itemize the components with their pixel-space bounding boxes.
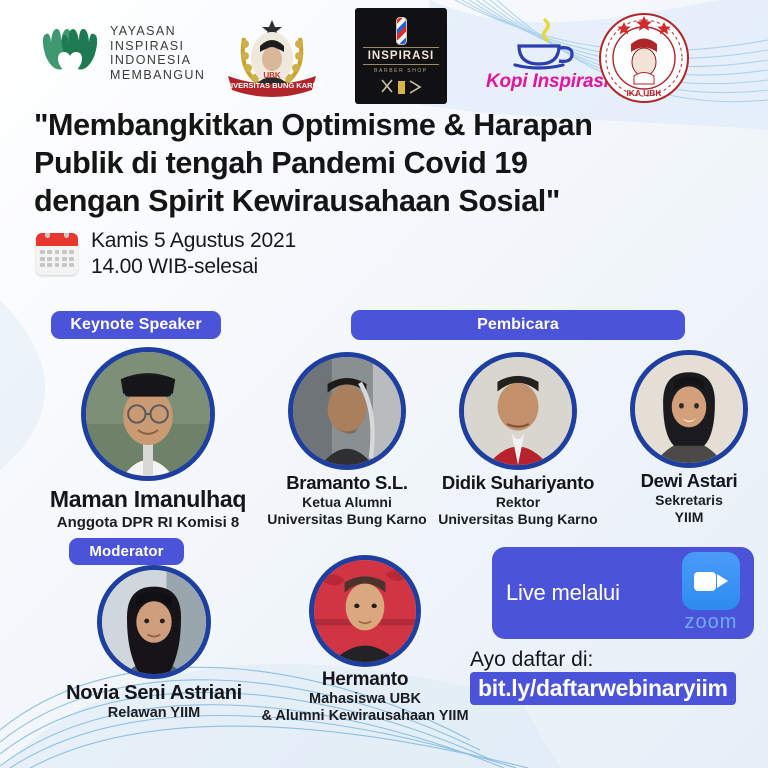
speaker-2-name: Didik Suhariyanto xyxy=(429,472,607,494)
yiim-line-1: YAYASAN xyxy=(110,24,205,39)
extra-role: Mahasiswa UBK & Alumni Kewirausahaan YII… xyxy=(245,691,485,725)
yiim-line-2: INSPIRASI xyxy=(110,39,205,54)
person-extra: Hermanto Mahasiswa UBK & Alumni Kewiraus… xyxy=(245,560,485,725)
avatar-didik-suhariyanto xyxy=(464,357,572,465)
ubk-initials: UBK xyxy=(263,71,281,80)
speaker-2-role: Rektor Universitas Bung Karno xyxy=(429,494,607,528)
badge-moderator: Moderator xyxy=(69,538,184,565)
logo-yiim: YAYASAN INSPIRASI INDONESIA MEMBANGUN xyxy=(38,22,205,84)
razor-scissors-icon xyxy=(378,78,424,96)
moderator-role: Relawan YIIM xyxy=(40,705,268,721)
event-date-block: Kamis 5 Agustus 2021 14.00 WIB-selesai xyxy=(36,228,296,280)
keynote-name: Maman Imanulhaq xyxy=(18,486,278,513)
avatar-dewi-astari xyxy=(635,355,743,463)
logo-universitas-bung-karno: UNIVERSITAS BUNG KARNO UBK xyxy=(218,12,326,100)
barber-logo-sub: BARBER SHOP xyxy=(374,68,428,74)
logo-strip: YAYASAN INSPIRASI INDONESIA MEMBANGUN xyxy=(0,0,768,108)
speaker-1-role-line-1: Ketua Alumni xyxy=(258,494,436,511)
logo-ika-ubk: IKA UBK xyxy=(590,10,698,106)
person-moderator: Novia Seni Astriani Relawan YIIM xyxy=(40,570,268,721)
avatar-hermanto xyxy=(314,560,416,662)
register-link[interactable]: bit.ly/daftarwebinaryiim xyxy=(470,672,736,705)
barber-pole-icon xyxy=(396,17,407,45)
calendar-icon xyxy=(36,233,78,275)
speaker-3-role-line-2: YIIM xyxy=(600,509,768,526)
person-speaker-3: Dewi Astari Sekretaris YIIM xyxy=(600,355,768,526)
register-call-to-action: Ayo daftar di: xyxy=(470,648,593,672)
live-platform-box: Live melalui zoom xyxy=(492,547,754,639)
title-line-2: Publik di tengah Pandemi Covid 19 xyxy=(34,144,750,182)
avatar-photo xyxy=(464,357,572,465)
yiim-hands-heart-icon xyxy=(38,22,102,84)
barber-logo-text: INSPIRASI xyxy=(363,47,440,65)
avatar-bramanto xyxy=(293,357,401,465)
moderator-name: Novia Seni Astriani xyxy=(40,682,268,705)
speaker-1-name: Bramanto S.L. xyxy=(258,472,436,494)
avatar-photo xyxy=(86,352,210,476)
badge-pembicara: Pembicara xyxy=(351,310,685,340)
ubk-seal-icon: UNIVERSITAS BUNG KARNO UBK xyxy=(218,12,326,100)
avatar-photo xyxy=(635,355,743,463)
person-keynote: Maman Imanulhaq Anggota DPR RI Komisi 8 xyxy=(18,352,278,531)
title-line-1: "Membangkitkan Optimisme & Harapan xyxy=(34,106,750,144)
event-day-date: Kamis 5 Agustus 2021 xyxy=(91,228,296,254)
badge-keynote-speaker: Keynote Speaker xyxy=(51,311,221,339)
keynote-role: Anggota DPR RI Komisi 8 xyxy=(18,514,278,531)
speaker-1-role: Ketua Alumni Universitas Bung Karno xyxy=(258,494,436,528)
ika-ubk-seal-icon: IKA UBK xyxy=(590,10,698,106)
speaker-2-role-line-1: Rektor xyxy=(429,494,607,511)
avatar-photo xyxy=(314,560,416,662)
speaker-3-role: Sekretaris YIIM xyxy=(600,492,768,526)
ika-ubk-text: IKA UBK xyxy=(626,88,662,98)
yiim-logo-text: YAYASAN INSPIRASI INDONESIA MEMBANGUN xyxy=(110,24,205,82)
poster-title: "Membangkitkan Optimisme & Harapan Publi… xyxy=(34,106,750,220)
extra-role-line-1: Mahasiswa UBK xyxy=(245,691,485,708)
speaker-3-name: Dewi Astari xyxy=(600,470,768,492)
webinar-poster: YAYASAN INSPIRASI INDONESIA MEMBANGUN xyxy=(0,0,768,768)
zoom-logo: zoom xyxy=(682,552,740,634)
yiim-line-3: INDONESIA xyxy=(110,53,205,68)
live-label: Live melalui xyxy=(506,580,620,606)
title-line-3: dengan Spirit Kewirausahaan Sosial" xyxy=(34,182,750,220)
extra-name: Hermanto xyxy=(245,669,485,691)
event-time: 14.00 WIB-selesai xyxy=(91,254,296,280)
avatar-photo xyxy=(102,570,206,674)
zoom-wordmark: zoom xyxy=(685,611,738,634)
ubk-ribbon-text: UNIVERSITAS BUNG KARNO xyxy=(220,81,324,90)
speaker-1-role-line-2: Universitas Bung Karno xyxy=(258,511,436,528)
coffee-cup-icon xyxy=(501,18,593,70)
person-speaker-1: Bramanto S.L. Ketua Alumni Universitas B… xyxy=(258,357,436,528)
speaker-3-role-line-1: Sekretaris xyxy=(600,492,768,509)
avatar-photo xyxy=(293,357,401,465)
yiim-line-4: MEMBANGUN xyxy=(110,68,205,83)
speaker-2-role-line-2: Universitas Bung Karno xyxy=(429,511,607,528)
extra-role-line-2: & Alumni Kewirausahaan YIIM xyxy=(245,708,485,725)
avatar-novia-seni-astriani xyxy=(102,570,206,674)
event-date-text: Kamis 5 Agustus 2021 14.00 WIB-selesai xyxy=(91,228,296,280)
logo-inspirasi-barber-shop: INSPIRASI BARBER SHOP xyxy=(355,8,447,104)
video-camera-icon xyxy=(682,552,740,610)
person-speaker-2: Didik Suhariyanto Rektor Universitas Bun… xyxy=(429,357,607,528)
avatar-maman-imanulhaq xyxy=(86,352,210,476)
